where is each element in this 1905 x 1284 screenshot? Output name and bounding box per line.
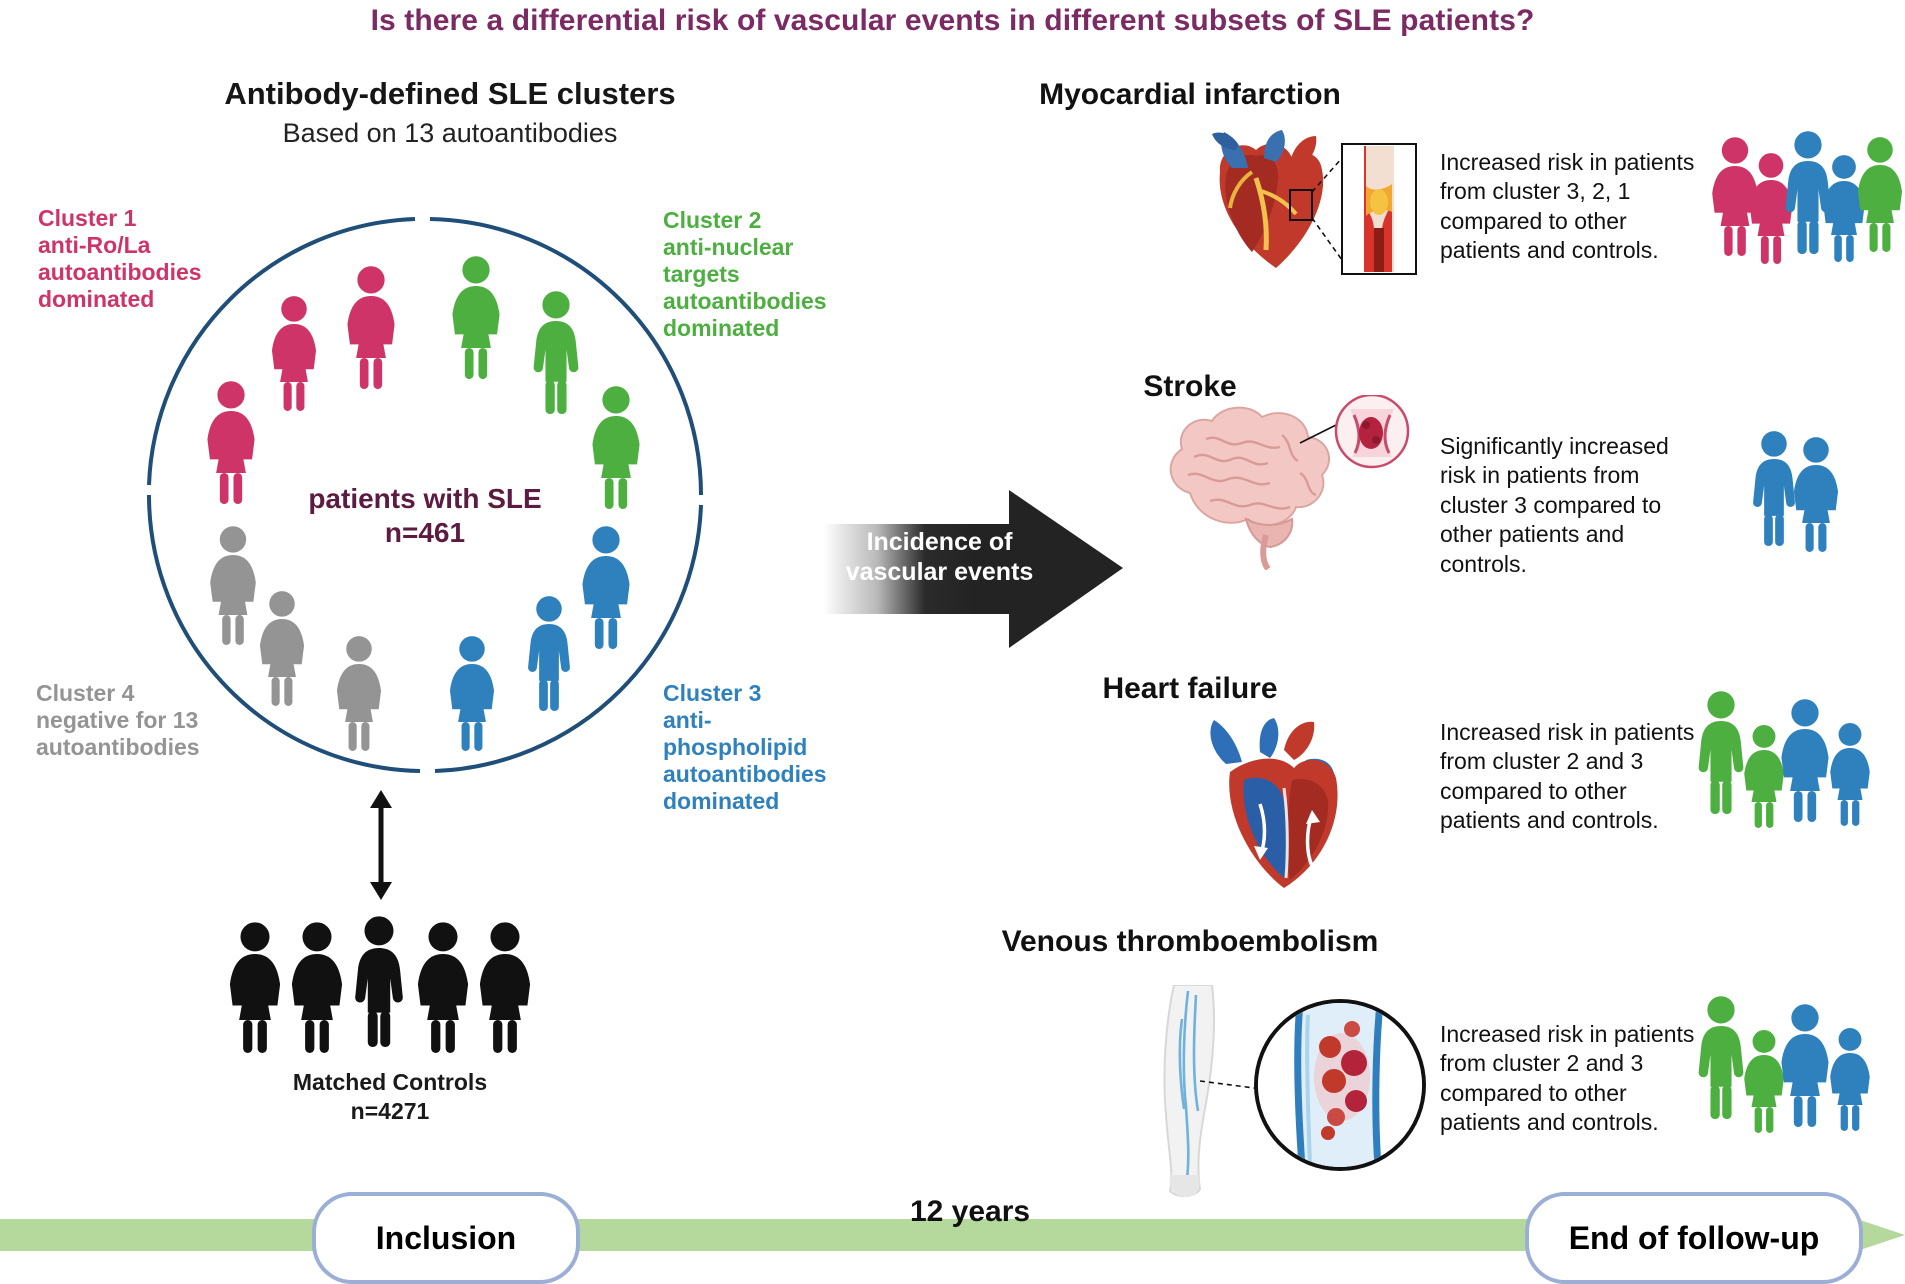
outcome-title-venous-thromboembolism: Venous thromboembolism [960,925,1420,959]
control-person-3 [346,915,412,1047]
page-title: Is there a differential risk of vascular… [0,4,1905,38]
cluster-person-1 [265,295,323,411]
outcome-title-heart-failure: Heart failure [960,672,1420,706]
matched-controls-figures [222,915,562,1050]
heart-with-artery-plaque-icon [1160,128,1430,293]
timeline-start-pill[interactable]: Inclusion [312,1192,580,1284]
outcome-title-myocardial-infarction: Myocardial infarction [960,78,1420,112]
outcome-people-venous-thromboembolism [1690,995,1890,1145]
circle-center-caption: patients with SLE n=461 [205,482,645,550]
heart-cross-section-icon [1180,718,1380,893]
controls-connector-arrow [364,790,398,905]
center-line-2: n=461 [205,516,645,550]
cluster-person-2 [340,265,402,389]
outcome-text-myocardial-infarction: Increased risk in patients from cluster … [1440,148,1705,266]
text-line-5: dominated [663,788,878,815]
cluster-person-4 [445,255,507,379]
control-person-5 [472,921,538,1053]
clusters-subheading: Based on 13 autoantibodies [0,118,900,149]
timeline-end-label: End of follow-up [1569,1220,1820,1257]
cluster-person-9 [443,635,501,751]
outcome-people-myocardial-infarction [1705,130,1895,280]
matched-controls-caption: Matched Controls n=4271 [190,1068,590,1126]
vte-person-4 [1824,1027,1876,1131]
controls-line-1: Matched Controls [190,1068,590,1097]
outcome-text-venous-thromboembolism: Increased risk in patients from cluster … [1440,1020,1705,1138]
cluster-person-8 [520,595,578,711]
incidence-arrow-label: Incidence of vascular events [832,528,1047,587]
cluster-person-11 [253,590,311,706]
cluster-person-5 [525,290,587,414]
outcome-people-stroke [1745,430,1865,555]
outcome-text-heart-failure: Increased risk in patients from cluster … [1440,718,1705,836]
controls-line-2: n=4271 [190,1097,590,1126]
center-line-1: patients with SLE [205,482,645,516]
control-person-1 [222,921,288,1053]
cluster-person-12 [330,635,388,751]
leg-vein-with-thrombus-icon [1130,985,1440,1200]
brain-with-vessel-clot-icon [1150,395,1440,570]
arrow-label-line-2: vascular events [832,558,1047,588]
hf-person-4 [1824,722,1876,826]
clusters-heading: Antibody-defined SLE clusters [0,76,900,112]
mi-person-5 [1851,136,1905,252]
stroke-person-2 [1787,436,1845,552]
control-person-2 [284,921,350,1053]
timeline-end-pill[interactable]: End of follow-up [1525,1192,1863,1284]
outcome-people-heart-failure [1690,690,1890,840]
timeline-start-label: Inclusion [376,1220,516,1257]
control-person-4 [410,921,476,1053]
arrow-label-line-1: Incidence of [832,528,1047,558]
timeline-duration-label: 12 years [820,1195,1120,1229]
outcome-text-stroke: Significantly increased risk in patients… [1440,432,1705,579]
